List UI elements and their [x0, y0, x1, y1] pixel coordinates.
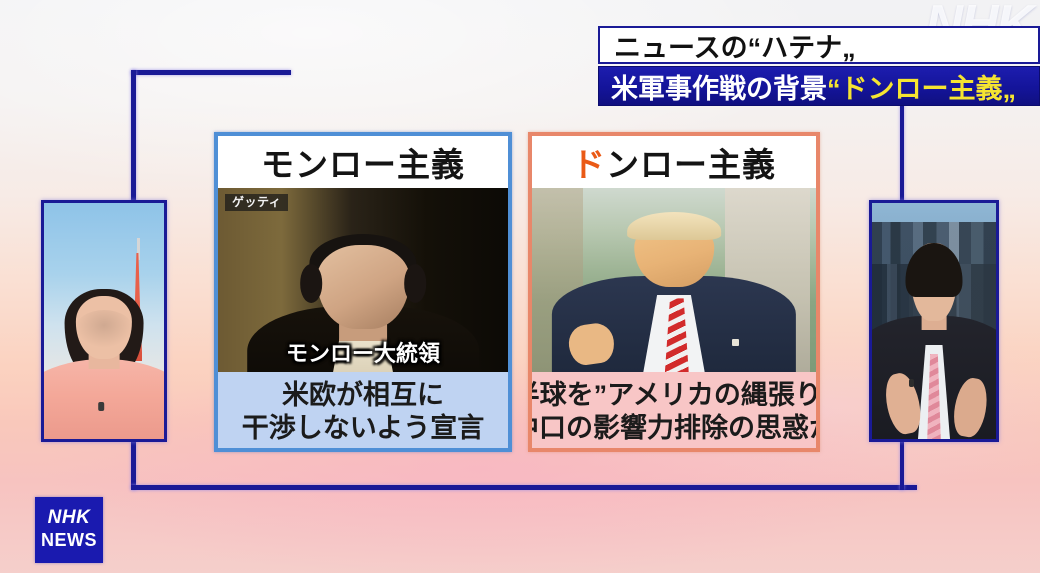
card-title-monroe-text: モンロー主義 [261, 138, 465, 186]
nhk-bug-label: NEWS [41, 530, 97, 552]
connector-line-top-left [131, 70, 291, 75]
nhk-bug-network: NHK [48, 508, 91, 527]
connector-line-bottom [131, 485, 917, 490]
topic-card-donroe[interactable]: ドンロー主義 西半球を”アメリカの縄張り„に 中口の影響力排除の思惑か [528, 132, 820, 452]
caption-line-1: 米欧が相互に [282, 379, 444, 412]
card-photo-donroe [532, 188, 816, 372]
video-panel-commentator-right[interactable] [869, 200, 999, 442]
card-title-donroe: ドンロー主義 [532, 136, 816, 188]
photo-credit-tag: ゲッティ [225, 194, 288, 211]
card-title-donroe-accent: ド [572, 138, 606, 186]
headline-main-highlight: “ドンロー主義„ [827, 67, 1016, 106]
anchor-clothing [41, 359, 167, 439]
photo-caption-monroe: モンロー大統領 [286, 336, 440, 368]
lapel-microphone-icon-right [909, 379, 914, 387]
trump-hair [627, 212, 721, 240]
card-title-monroe: モンロー主義 [218, 136, 508, 188]
headline-kicker: ニュースの“ハテナ„ [598, 26, 1040, 64]
headline-banner-group: ニュースの“ハテナ„ 米軍事作戦の背景 “ドンロー主義„ [598, 26, 1040, 106]
lapel-microphone-icon [98, 402, 104, 411]
anchor-person-left [41, 264, 167, 439]
caption-line-2: 中口の影響力排除の思惑か [528, 412, 820, 445]
monroe-sideburn-right [404, 264, 426, 302]
broadcast-screen: NHK ニュースの“ハテナ„ 米軍事作戦の背景 “ドンロー主義„ [0, 0, 1040, 573]
card-title-donroe-text: ンロー主義 [606, 138, 776, 186]
topic-card-monroe[interactable]: モンロー主義 ゲッティ モンロー大統領 米欧が相互に 干渉しないよう宣言 [214, 132, 512, 452]
video-panel-anchor-left[interactable] [41, 200, 167, 442]
card-caption-donroe: 西半球を”アメリカの縄張り„に 中口の影響力排除の思惑か [532, 372, 816, 452]
headline-main: 米軍事作戦の背景 “ドンロー主義„ [598, 66, 1040, 106]
card-photo-monroe: ゲッティ モンロー大統領 [218, 188, 508, 372]
monroe-sideburn-left [300, 264, 322, 302]
headline-main-prefix: 米軍事作戦の背景 [611, 67, 827, 106]
flag-lapel-pin-icon [732, 339, 739, 346]
card-caption-monroe: 米欧が相互に 干渉しないよう宣言 [218, 372, 508, 452]
monroe-head [317, 245, 410, 329]
caption-line-1: 西半球を”アメリカの縄張り„に [528, 379, 820, 412]
caption-line-2: 干渉しないよう宣言 [242, 412, 484, 445]
nhk-news-bug: NHK NEWS [35, 497, 103, 563]
